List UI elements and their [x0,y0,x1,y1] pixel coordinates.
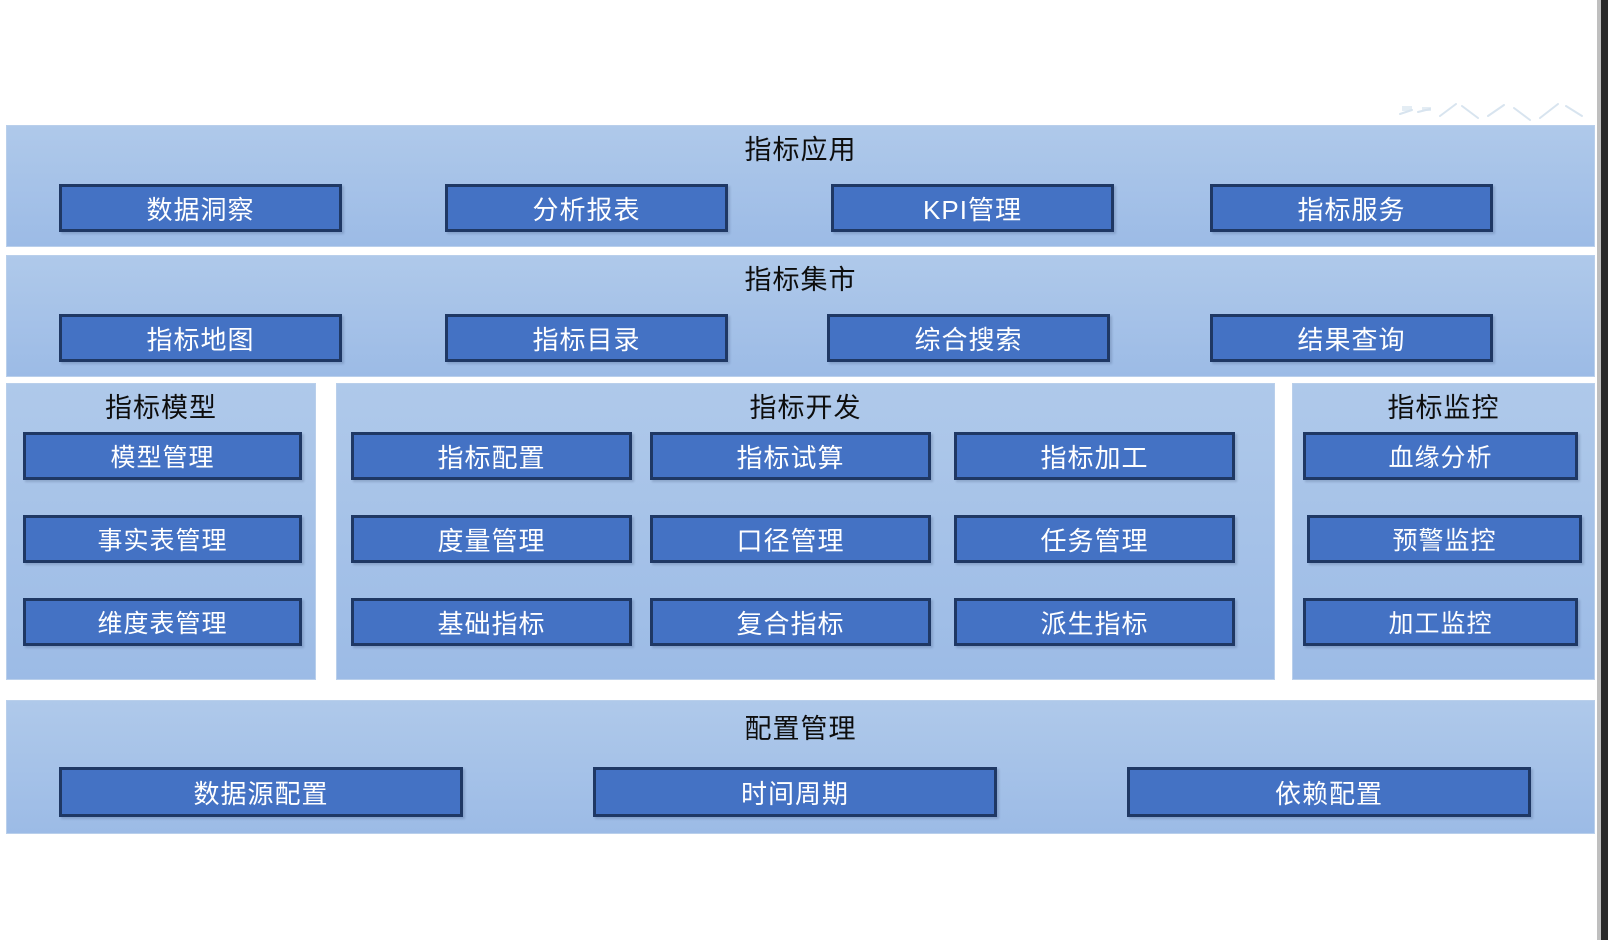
node-data-insight[interactable]: 数据洞察 [59,184,342,232]
node-processing-monitoring[interactable]: 加工监控 [1303,598,1578,646]
layer-title-mart: 指标集市 [7,264,1594,296]
layer-panel-model: 指标模型 模型管理 事实表管理 维度表管理 [6,383,316,680]
node-model-management[interactable]: 模型管理 [23,432,302,480]
indicator-platform-architecture-diagram: 指标应用 数据洞察 分析报表 KPI管理 指标服务 指标集市 指标地图 指标目录… [0,0,1608,940]
node-indicator-processing[interactable]: 指标加工 [954,432,1235,480]
node-indicator-catalog[interactable]: 指标目录 [445,314,728,362]
node-datasource-configuration[interactable]: 数据源配置 [59,767,463,817]
node-dimension-table-management[interactable]: 维度表管理 [23,598,302,646]
layer-title-monitor: 指标监控 [1293,392,1594,424]
layer-panel-application: 指标应用 数据洞察 分析报表 KPI管理 指标服务 [6,125,1595,247]
node-basic-indicator[interactable]: 基础指标 [351,598,632,646]
node-measure-management[interactable]: 度量管理 [351,515,632,563]
layer-title-development: 指标开发 [337,392,1274,424]
node-indicator-service[interactable]: 指标服务 [1210,184,1493,232]
layer-panel-mart: 指标集市 指标地图 指标目录 综合搜索 结果查询 [6,255,1595,377]
node-alert-monitoring[interactable]: 预警监控 [1307,515,1582,563]
node-indicator-trial-calculation[interactable]: 指标试算 [650,432,931,480]
layer-title-model: 指标模型 [7,392,315,424]
node-comprehensive-search[interactable]: 综合搜索 [827,314,1110,362]
layer-panel-configuration: 配置管理 数据源配置 时间周期 依赖配置 [6,700,1595,834]
layer-title-application: 指标应用 [7,134,1594,166]
node-composite-indicator[interactable]: 复合指标 [650,598,931,646]
node-task-management[interactable]: 任务管理 [954,515,1235,563]
node-fact-table-management[interactable]: 事实表管理 [23,515,302,563]
layer-panel-monitor: 指标监控 血缘分析 预警监控 加工监控 [1292,383,1595,680]
page-edge [1601,0,1608,940]
layer-title-configuration: 配置管理 [7,713,1594,745]
node-time-period[interactable]: 时间周期 [593,767,997,817]
node-analysis-report[interactable]: 分析报表 [445,184,728,232]
layer-panel-development: 指标开发 指标配置 指标试算 指标加工 度量管理 口径管理 任务管理 基础指标 … [336,383,1275,680]
node-dependency-configuration[interactable]: 依赖配置 [1127,767,1531,817]
node-derived-indicator[interactable]: 派生指标 [954,598,1235,646]
node-result-query[interactable]: 结果查询 [1210,314,1493,362]
scan-artifact-mark [1396,100,1596,128]
node-lineage-analysis[interactable]: 血缘分析 [1303,432,1578,480]
node-caliber-management[interactable]: 口径管理 [650,515,931,563]
node-kpi-management[interactable]: KPI管理 [831,184,1114,232]
node-indicator-map[interactable]: 指标地图 [59,314,342,362]
node-indicator-configuration[interactable]: 指标配置 [351,432,632,480]
